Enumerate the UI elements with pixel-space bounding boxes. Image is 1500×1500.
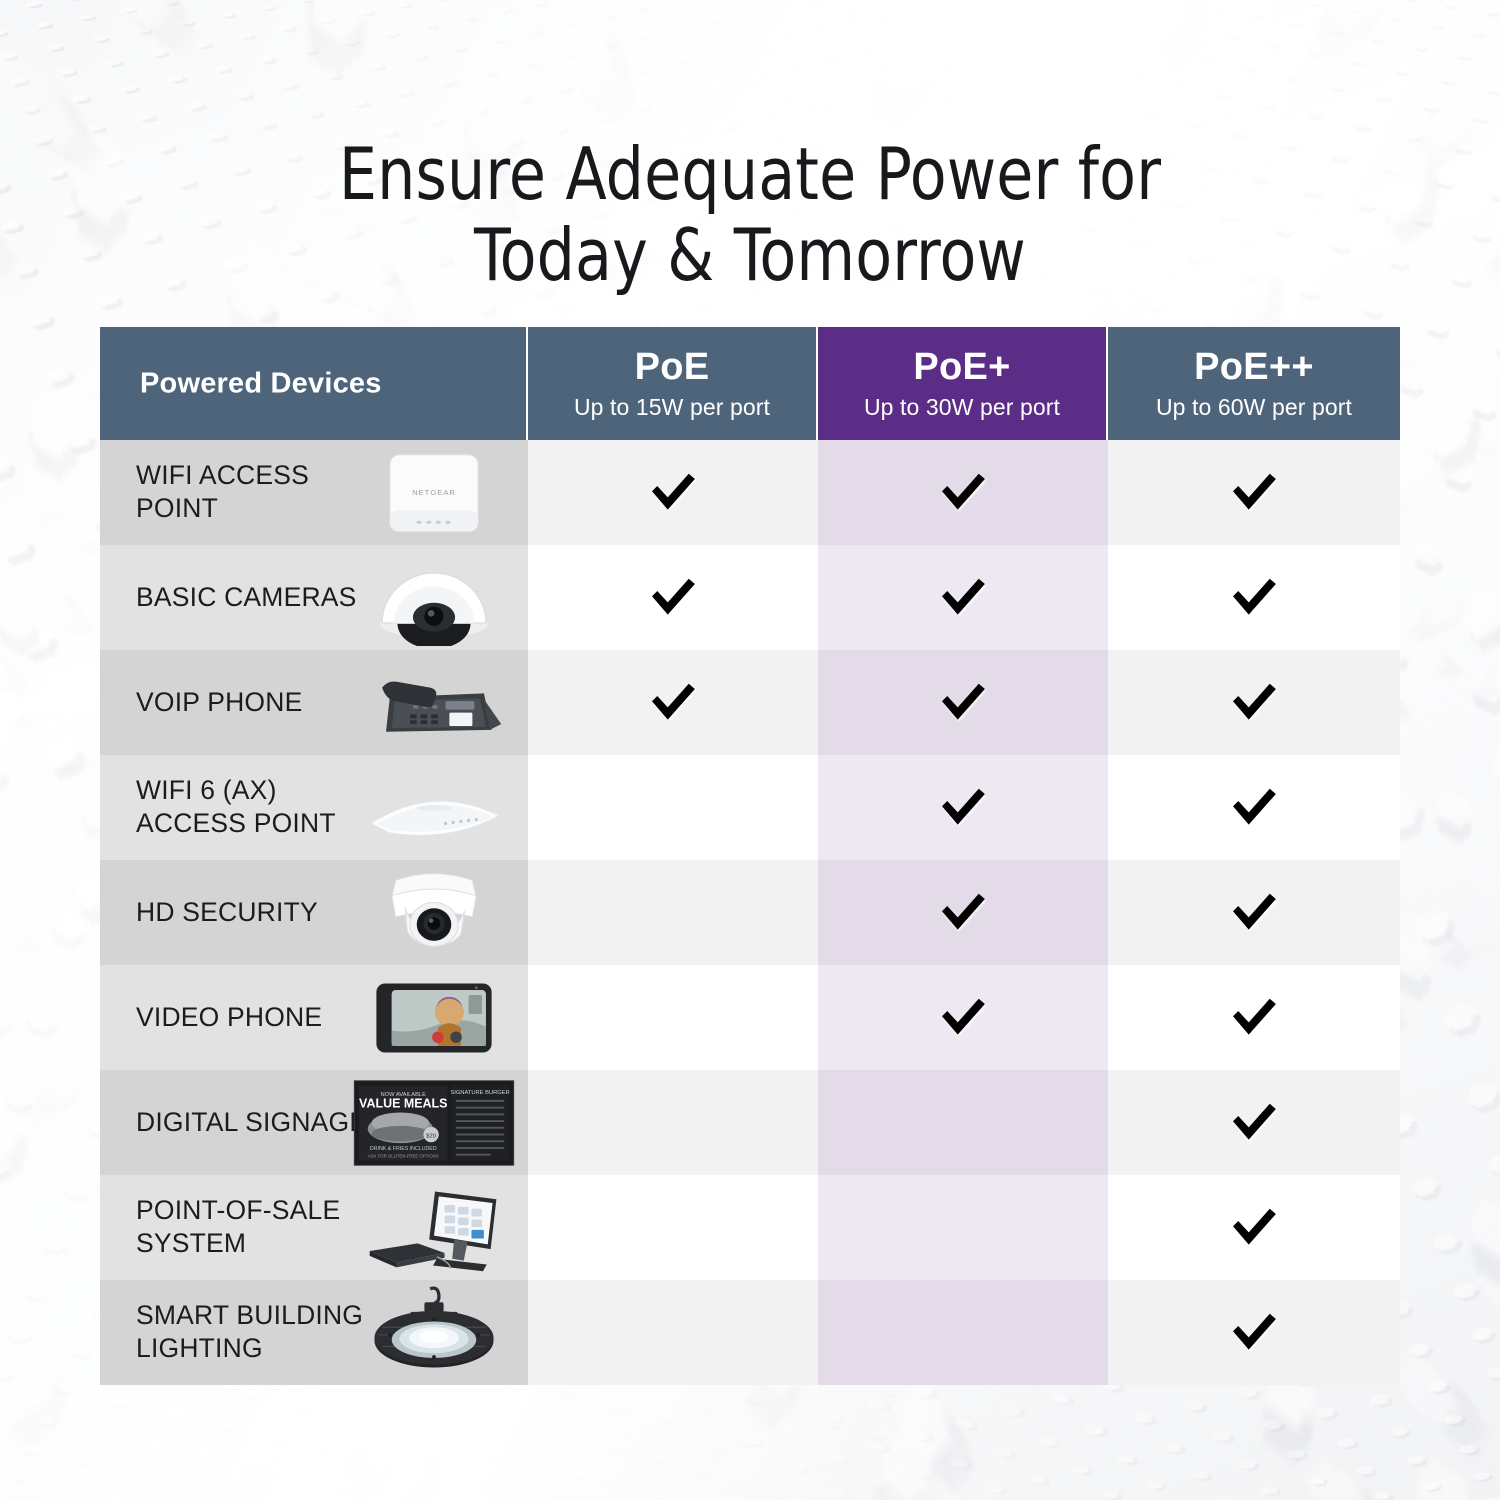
row-label-cell: WIFI 6 (AX)ACCESS POINT <box>100 755 528 860</box>
table-row: WIFI 6 (AX)ACCESS POINT <box>100 755 1400 860</box>
table-row: DIGITAL SIGNAGE <box>100 1070 1400 1175</box>
row-label-line-1: WIFI ACCESS <box>136 459 309 493</box>
table-row: VOIP PHONE <box>100 650 1400 755</box>
support-cell-poe-plus <box>818 1280 1108 1385</box>
row-label-cell: VIDEO PHONE <box>100 965 528 1070</box>
support-cell-poe-plus-plus <box>1108 545 1400 650</box>
row-label-text: VIDEO PHONE <box>136 1001 322 1035</box>
support-cell-poe-plus-plus <box>1108 1175 1400 1280</box>
table-row: SMART BUILDINGLIGHTING <box>100 1280 1400 1385</box>
table-row: POINT-OF-SALESYSTEM <box>100 1175 1400 1280</box>
pos-terminal-icon <box>348 1182 520 1274</box>
checkmark-icon <box>935 570 991 626</box>
row-label-text: VOIP PHONE <box>136 686 302 720</box>
checkmark-icon <box>1226 780 1282 836</box>
row-label-cell: SMART BUILDINGLIGHTING <box>100 1280 528 1385</box>
row-label-text: BASIC CAMERAS <box>136 581 357 615</box>
row-label-line-1: WIFI 6 (AX) <box>136 774 336 808</box>
support-cell-poe-plus-plus <box>1108 440 1400 545</box>
support-cell-poe-plus-plus <box>1108 755 1400 860</box>
support-cell-poe-plus <box>818 755 1108 860</box>
row-label-line-2: POINT <box>136 493 309 527</box>
row-label-text: HD SECURITY <box>136 896 318 930</box>
row-label-line-2: LIGHTING <box>136 1333 363 1367</box>
checkmark-icon <box>1226 1200 1282 1256</box>
support-cell-poe-plus <box>818 440 1108 545</box>
row-label-line-1: DIGITAL SIGNAGE <box>136 1106 367 1140</box>
turret-camera-icon <box>348 867 520 959</box>
table-row: VIDEO PHONE <box>100 965 1400 1070</box>
checkmark-icon <box>1226 885 1282 941</box>
header-cell-poe-plus: PoE+ Up to 30W per port <box>818 327 1108 440</box>
checkmark-icon <box>935 990 991 1046</box>
support-cell-poe <box>528 1175 818 1280</box>
digital-signage-icon <box>348 1077 520 1169</box>
row-label-cell: POINT-OF-SALESYSTEM <box>100 1175 528 1280</box>
row-label-cell: WIFI ACCESSPOINT <box>100 440 528 545</box>
support-cell-poe-plus <box>818 965 1108 1070</box>
table-header-row: Powered Devices PoE Up to 15W per port P… <box>100 327 1400 440</box>
support-cell-poe <box>528 1280 818 1385</box>
checkmark-icon <box>1226 570 1282 626</box>
checkmark-icon <box>645 675 701 731</box>
row-label-cell: VOIP PHONE <box>100 650 528 755</box>
row-label-line-1: VIDEO PHONE <box>136 1001 322 1035</box>
poe-comparison-infographic: Ensure Adequate Power for Today & Tomorr… <box>0 0 1500 1500</box>
support-cell-poe-plus-plus <box>1108 1070 1400 1175</box>
table-body: WIFI ACCESSPOINTBASIC CAMERASVOIP PHONEW… <box>100 440 1400 1385</box>
support-cell-poe-plus <box>818 545 1108 650</box>
row-label-cell: DIGITAL SIGNAGE <box>100 1070 528 1175</box>
header-cell-poe: PoE Up to 15W per port <box>528 327 818 440</box>
row-label-cell: HD SECURITY <box>100 860 528 965</box>
support-cell-poe <box>528 860 818 965</box>
row-label-text: SMART BUILDINGLIGHTING <box>136 1299 363 1367</box>
header-cell-poe-plus-plus: PoE++ Up to 60W per port <box>1108 327 1400 440</box>
header-title-poe-plus: PoE+ <box>913 348 1010 388</box>
checkmark-icon <box>935 780 991 836</box>
row-label-line-1: HD SECURITY <box>136 896 318 930</box>
header-subtitle-poe: Up to 15W per port <box>574 395 770 419</box>
table-row: BASIC CAMERAS <box>100 545 1400 650</box>
row-label-text: POINT-OF-SALESYSTEM <box>136 1194 340 1262</box>
header-title-poe-plus-plus: PoE++ <box>1194 348 1314 388</box>
support-cell-poe <box>528 650 818 755</box>
row-label-text: WIFI 6 (AX)ACCESS POINT <box>136 774 336 842</box>
header-title-poe: PoE <box>635 348 710 388</box>
header-cell-powered-devices: Powered Devices <box>100 327 528 440</box>
checkmark-icon <box>645 570 701 626</box>
row-label-text: DIGITAL SIGNAGE <box>136 1106 367 1140</box>
poe-comparison-table: Powered Devices PoE Up to 15W per port P… <box>100 327 1400 1385</box>
support-cell-poe-plus <box>818 650 1108 755</box>
wifi6-access-point-icon <box>348 762 520 854</box>
support-cell-poe <box>528 440 818 545</box>
row-label-line-2: SYSTEM <box>136 1228 340 1262</box>
page-title: Ensure Adequate Power for Today & Tomorr… <box>53 134 1448 295</box>
support-cell-poe <box>528 965 818 1070</box>
support-cell-poe <box>528 1070 818 1175</box>
support-cell-poe <box>528 545 818 650</box>
support-cell-poe-plus <box>818 860 1108 965</box>
desk-phone-icon <box>348 657 520 749</box>
row-label-line-2: ACCESS POINT <box>136 808 336 842</box>
row-label-line-1: SMART BUILDING <box>136 1299 363 1333</box>
page-title-line-2: Today & Tomorrow <box>53 215 1448 296</box>
header-label-powered-devices: Powered Devices <box>140 367 382 400</box>
checkmark-icon <box>935 885 991 941</box>
dome-camera-icon <box>348 552 520 644</box>
header-subtitle-poe-plus: Up to 30W per port <box>864 395 1060 419</box>
support-cell-poe-plus-plus <box>1108 860 1400 965</box>
table-row: WIFI ACCESSPOINT <box>100 440 1400 545</box>
checkmark-icon <box>1226 1305 1282 1361</box>
checkmark-icon <box>1226 990 1282 1046</box>
checkmark-icon <box>935 675 991 731</box>
row-label-line-1: BASIC CAMERAS <box>136 581 357 615</box>
row-label-line-1: POINT-OF-SALE <box>136 1194 340 1228</box>
checkmark-icon <box>1226 465 1282 521</box>
support-cell-poe-plus-plus <box>1108 1280 1400 1385</box>
high-bay-light-icon <box>348 1287 520 1379</box>
support-cell-poe-plus-plus <box>1108 650 1400 755</box>
checkmark-icon <box>935 465 991 521</box>
row-label-cell: BASIC CAMERAS <box>100 545 528 650</box>
support-cell-poe-plus <box>818 1070 1108 1175</box>
header-subtitle-poe-plus-plus: Up to 60W per port <box>1156 395 1352 419</box>
support-cell-poe <box>528 755 818 860</box>
video-phone-icon <box>348 972 520 1064</box>
checkmark-icon <box>1226 675 1282 731</box>
page-title-line-1: Ensure Adequate Power for <box>53 134 1448 215</box>
wifi-access-point-icon <box>348 447 520 539</box>
checkmark-icon <box>645 465 701 521</box>
checkmark-icon <box>1226 1095 1282 1151</box>
support-cell-poe-plus <box>818 1175 1108 1280</box>
table-row: HD SECURITY <box>100 860 1400 965</box>
support-cell-poe-plus-plus <box>1108 965 1400 1070</box>
row-label-line-1: VOIP PHONE <box>136 686 302 720</box>
row-label-text: WIFI ACCESSPOINT <box>136 459 309 527</box>
